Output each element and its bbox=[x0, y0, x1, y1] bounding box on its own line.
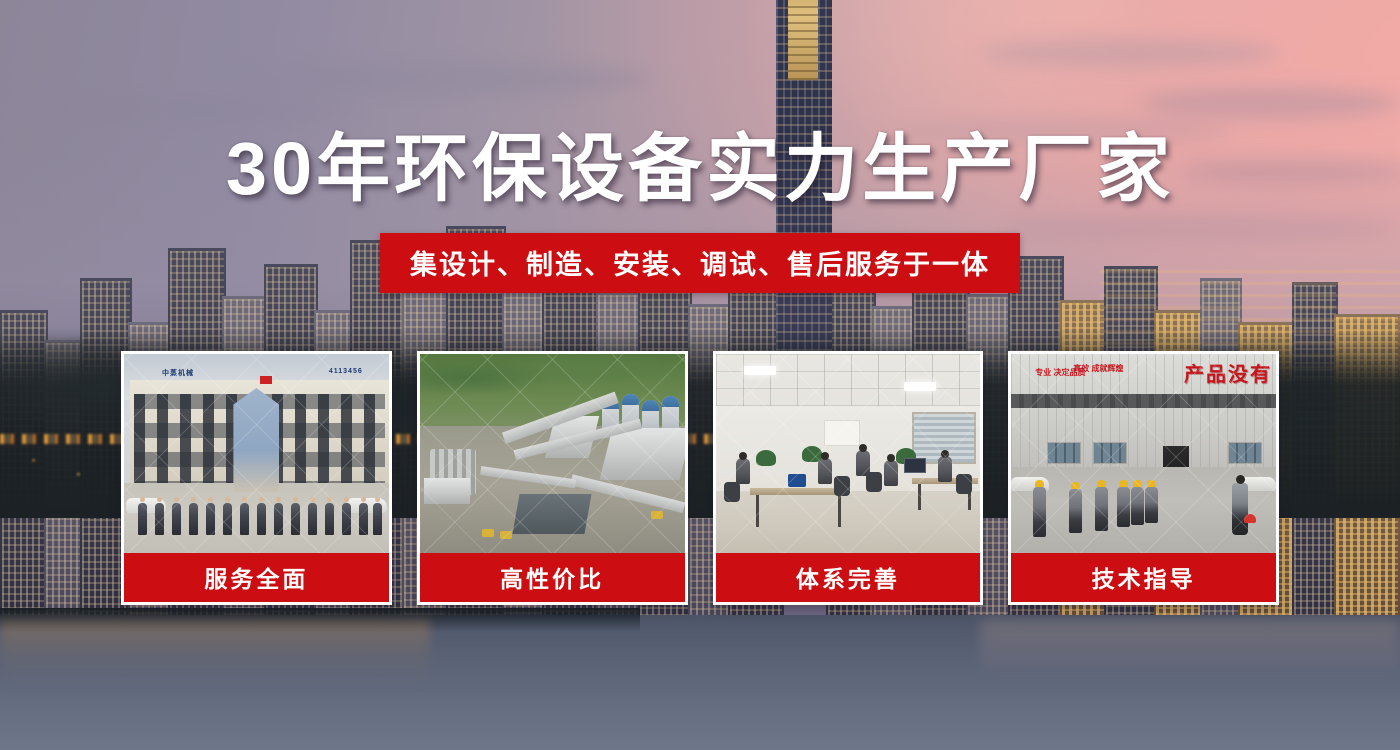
employee bbox=[736, 458, 750, 484]
worker bbox=[1145, 487, 1158, 523]
skyscraper-lit-section bbox=[788, 0, 818, 80]
chair bbox=[956, 474, 972, 494]
feature-card-list: 中蒸机械 4113456 服务全面 bbox=[121, 351, 1279, 605]
laptop bbox=[788, 474, 806, 487]
worker bbox=[1131, 487, 1144, 525]
chair bbox=[834, 476, 850, 496]
wall-window-band bbox=[1011, 394, 1276, 408]
potted-plant bbox=[756, 450, 776, 466]
desk-leg bbox=[756, 495, 759, 527]
water-reflection bbox=[980, 620, 1400, 680]
building-sign-text: 中蒸机械 bbox=[162, 368, 194, 378]
factory-window bbox=[1093, 442, 1127, 464]
excavator bbox=[651, 511, 663, 519]
desk-leg bbox=[918, 484, 921, 510]
factory-window bbox=[1228, 442, 1262, 464]
factory-window bbox=[1047, 442, 1081, 464]
wall-slogan-main: 产品没有 bbox=[1184, 358, 1272, 387]
staff-group bbox=[138, 493, 382, 535]
chair bbox=[866, 472, 882, 492]
page-title: 30年环保设备实力生产厂家 bbox=[0, 132, 1400, 206]
building-phone-text: 4113456 bbox=[329, 368, 363, 375]
subtitle-banner: 集设计、制造、安装、调试、售后服务于一体 bbox=[380, 233, 1020, 293]
feature-card-caption: 服务全面 bbox=[124, 553, 389, 602]
feature-card[interactable]: 产品没有 专业 决定品质 高效 成就辉煌 bbox=[1008, 351, 1279, 605]
worker bbox=[1069, 489, 1082, 533]
monitor bbox=[904, 458, 926, 473]
worker bbox=[1117, 487, 1130, 527]
feature-card[interactable]: 中蒸机械 4113456 服务全面 bbox=[121, 351, 392, 605]
company-headquarters-photo: 中蒸机械 4113456 bbox=[124, 354, 389, 553]
supervisor bbox=[1232, 483, 1248, 535]
feature-card-caption: 高性价比 bbox=[420, 553, 685, 602]
worker bbox=[1095, 487, 1108, 531]
promo-banner: 30年环保设备实力生产厂家 集设计、制造、安装、调试、售后服务于一体 中蒸机械 … bbox=[0, 0, 1400, 750]
feature-card[interactable]: 体系完善 bbox=[713, 351, 984, 605]
desk-leg bbox=[838, 495, 841, 527]
desk bbox=[750, 488, 846, 495]
red-helmet bbox=[1244, 514, 1256, 523]
ceiling-light bbox=[744, 366, 776, 375]
wall-slogan-small: 高效 成就辉煌 bbox=[1073, 364, 1123, 375]
feature-card-caption: 体系完善 bbox=[716, 553, 981, 602]
aerial-industrial-plant-photo bbox=[420, 354, 685, 553]
employee bbox=[938, 456, 952, 482]
wall-poster bbox=[824, 420, 860, 446]
building-entrance bbox=[233, 388, 279, 492]
feature-card-caption: 技术指导 bbox=[1011, 553, 1276, 602]
plant-shed bbox=[512, 494, 591, 534]
office-interior-photo bbox=[716, 354, 981, 553]
ceiling bbox=[716, 354, 981, 412]
factory-workers-photo: 产品没有 专业 决定品质 高效 成就辉煌 bbox=[1011, 354, 1276, 553]
plant-office bbox=[424, 478, 470, 504]
ceiling-light bbox=[904, 382, 936, 391]
worker bbox=[1033, 487, 1046, 537]
chair bbox=[724, 482, 740, 502]
feature-card[interactable]: 高性价比 bbox=[417, 351, 688, 605]
excavator bbox=[500, 531, 512, 539]
water-reflection bbox=[0, 620, 430, 690]
employee bbox=[818, 458, 832, 484]
employee bbox=[884, 460, 898, 486]
excavator bbox=[482, 529, 494, 537]
flag-icon bbox=[260, 376, 272, 384]
